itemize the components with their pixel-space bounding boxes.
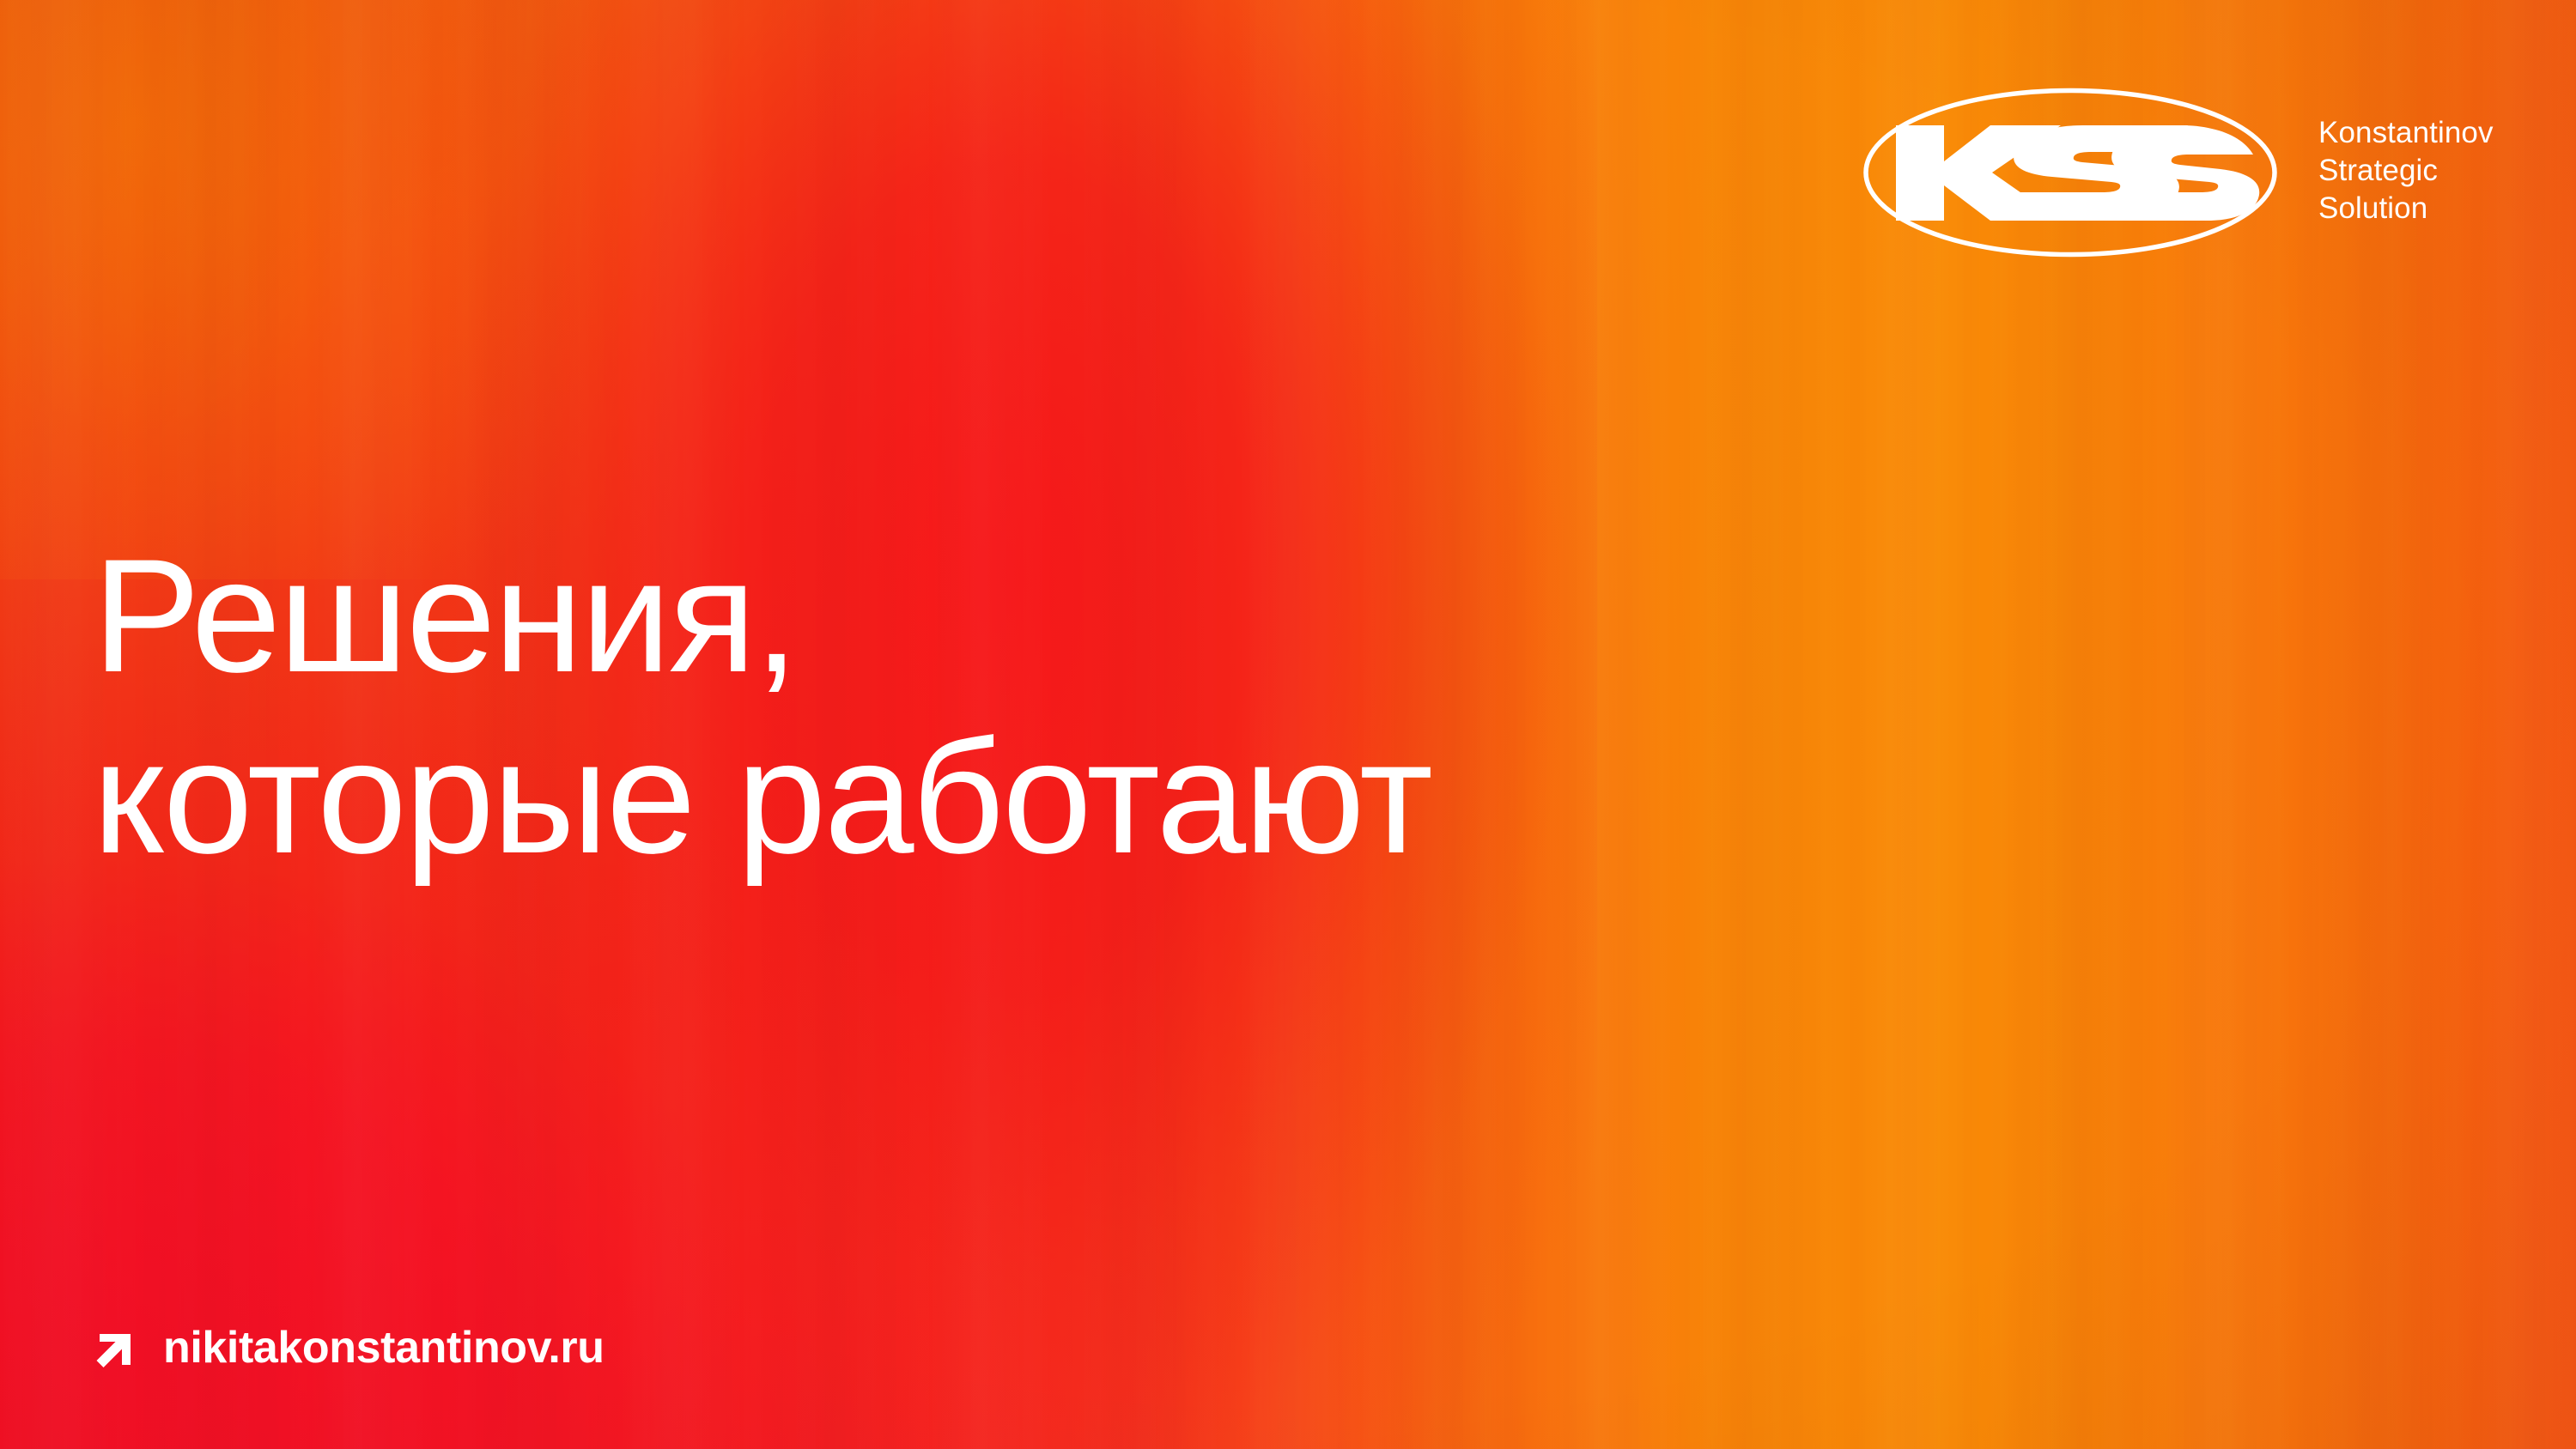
arrow-up-right-icon <box>91 1324 139 1372</box>
headline-line-2: которые работают <box>93 706 1431 888</box>
wordmark-line-3: Solution <box>2318 190 2494 227</box>
footer-url-text[interactable]: nikitakonstantinov.ru <box>163 1322 605 1373</box>
promo-slide: Konstantinov Strategic Solution Решения,… <box>0 0 2576 1449</box>
wordmark-line-2: Strategic <box>2318 152 2494 190</box>
brand-logo[interactable]: Konstantinov Strategic Solution <box>1862 86 2494 259</box>
kss-ellipse-monogram-icon <box>1862 86 2279 259</box>
wordmark-line-1: Konstantinov <box>2318 114 2494 152</box>
headline-line-1: Решения, <box>93 525 1431 706</box>
headline: Решения, которые работают <box>93 525 1431 887</box>
brand-wordmark: Konstantinov Strategic Solution <box>2318 114 2494 231</box>
footer-website-link[interactable]: nikitakonstantinov.ru <box>91 1322 605 1373</box>
